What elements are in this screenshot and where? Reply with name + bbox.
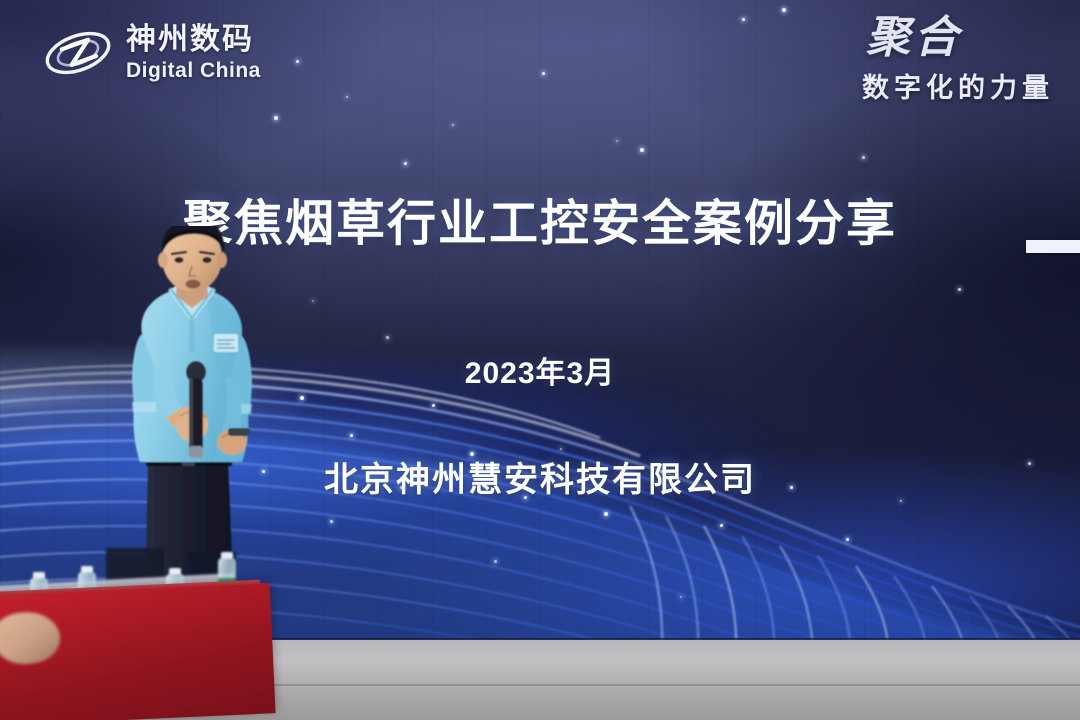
- brand-name-cn: 神州数码: [126, 25, 261, 55]
- digital-china-logo: 神州数码 Digital China: [42, 22, 261, 84]
- shirt-chest-logo: [214, 334, 238, 352]
- microphone-icon: [186, 361, 206, 458]
- presenter-remote-icon: [228, 428, 250, 436]
- digital-china-swirl-icon: [42, 22, 114, 84]
- screenshot-root: 神州数码 Digital China 聚合 数字化的力量 聚焦烟草行业工控安全案…: [0, 0, 1080, 720]
- event-logo: 聚合 数字化的力量: [862, 16, 1054, 105]
- brand-name-en: Digital China: [126, 60, 261, 81]
- event-logo-brush-text: 聚合: [862, 16, 962, 60]
- digital-china-wordmark: 神州数码 Digital China: [126, 25, 261, 81]
- event-logo-subtitle: 数字化的力量: [862, 66, 1054, 105]
